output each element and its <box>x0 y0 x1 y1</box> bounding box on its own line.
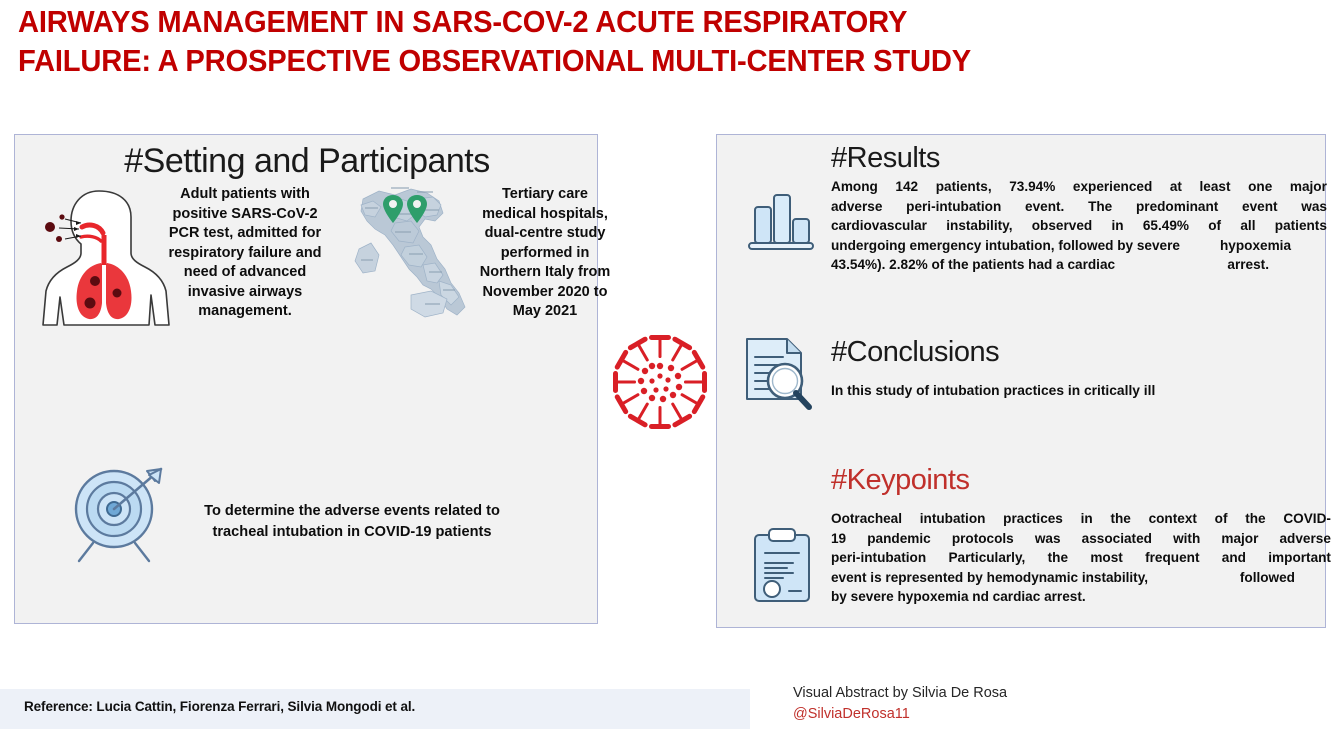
population-text: Adult patients with positive SARS-CoV-2 … <box>161 185 329 322</box>
conclusions-heading: #Conclusions <box>831 335 1327 369</box>
bar-chart-icon <box>745 183 815 253</box>
credit-line: Visual Abstract by Silvia De Rosa <box>793 685 1007 701</box>
twitter-handle[interactable]: @SilviaDeRosa11 <box>793 704 1007 725</box>
clipboard-icon <box>749 527 815 605</box>
results-heading: #Results <box>831 141 1327 175</box>
page-title-line-1: AIRWAYS MANAGEMENT IN SARS-COV-2 ACUTE R… <box>18 2 1127 41</box>
keypoints-line-5: by severe hypoxemia nd cardiac arrest. <box>831 587 1331 607</box>
results-line-2: adverseperi-intubationevent.Thepredomina… <box>831 197 1327 217</box>
conclusions-block: #Conclusions In this study of intubation… <box>831 335 1327 401</box>
keypoints-block: #Keypoints Ootrachealintubationpractices… <box>831 463 1331 607</box>
results-line-1: Among142patients,73.94%experiencedatleas… <box>831 177 1327 197</box>
reference-text: Reference: Lucia Cattin, Fiorenza Ferrar… <box>24 699 415 714</box>
keypoints-line-4: event is represented by hemodynamic inst… <box>831 568 1331 588</box>
italy-map-icon <box>339 173 485 323</box>
keypoints-text: Ootrachealintubationpracticesinthecontex… <box>831 509 1331 607</box>
keypoints-line-2: 19pandemicprotocolswasassociatedwithmajo… <box>831 529 1331 549</box>
credit-block: Visual Abstract by Silvia De Rosa @Silvi… <box>793 683 1007 725</box>
results-line-4: undergoing emergency intubation, followe… <box>831 236 1327 256</box>
setting-heading: #Setting and Participants <box>15 141 599 181</box>
keypoints-heading: #Keypoints <box>831 463 1331 497</box>
conclusions-text: In this study of intubation practices in… <box>831 381 1327 401</box>
results-block: #Results Among142patients,73.94%experien… <box>831 141 1327 275</box>
setting-participants-panel: #Setting and Participants <box>14 134 598 624</box>
lungs-airway-icon <box>37 183 177 333</box>
setting-text: Tertiary care medical hospitals, dual-ce… <box>477 185 613 322</box>
target-dartboard-icon <box>69 457 179 567</box>
results-conclusions-panel: #Results Among142patients,73.94%experien… <box>716 134 1326 628</box>
results-line-3: cardiovascularinstability,observedin65.4… <box>831 216 1327 236</box>
coronavirus-icon <box>608 330 712 434</box>
page-title-line-2: FAILURE: A PROSPECTIVE OBSERVATIONAL MUL… <box>18 41 1127 80</box>
page-title: AIRWAYS MANAGEMENT IN SARS-COV-2 ACUTE R… <box>18 2 1127 80</box>
keypoints-line-3: peri-intubationParticularly,themostfrequ… <box>831 548 1331 568</box>
results-line-5: 43.54%). 2.82% of the patients had a car… <box>831 255 1327 275</box>
study-aim-text: To determine the adverse events related … <box>187 501 517 543</box>
keypoints-line-1: Ootrachealintubationpracticesinthecontex… <box>831 509 1331 529</box>
results-text: Among142patients,73.94%experiencedatleas… <box>831 177 1327 275</box>
document-magnifier-icon <box>741 335 819 413</box>
